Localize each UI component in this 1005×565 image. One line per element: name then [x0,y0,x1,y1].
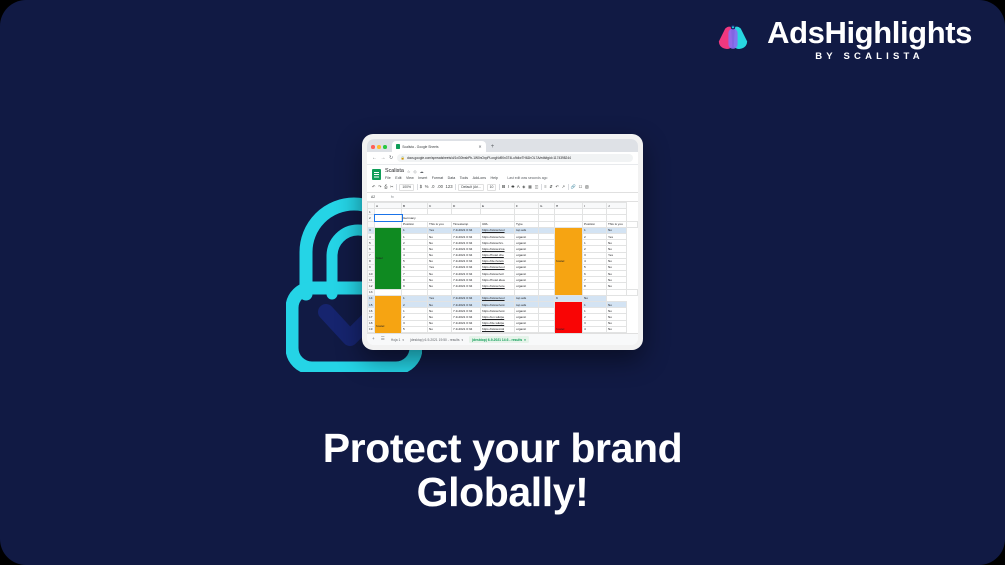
menu-insert[interactable]: Insert [418,176,427,180]
zoom-level[interactable]: 100% [399,184,414,191]
cell-type[interactable]: organic [515,332,539,333]
brand-tagline: BY SCALISTA [815,51,924,62]
adshighlights-petal-logo-icon [712,18,754,60]
slide-canvas: AdsHighlights BY SCALISTA Sc [0,0,1005,565]
fill-color-icon[interactable]: ◈ [522,185,525,189]
font-size-select[interactable]: 10 [487,184,497,191]
cloud-status-icon: ☁ [420,169,424,174]
last-edit-status: Last edit was seconds ago [507,176,547,180]
close-window-icon[interactable] [371,145,375,149]
new-tab-icon[interactable]: + [491,144,495,152]
currency-icon[interactable]: $ [420,185,422,189]
sheet-tab-desktop-143[interactable]: (desktop) 6-9-2021 14:3 - results ▾ [469,336,529,343]
toolbar-divider [396,184,397,190]
decrease-decimal-icon[interactable]: .0 [431,185,435,189]
brand-name: AdsHighlights [767,17,972,49]
grid-cell[interactable] [627,289,638,295]
paint-format-icon[interactable]: ✂ [390,185,394,189]
insert-comment-icon[interactable]: ☐ [579,185,583,189]
strikethrough-icon[interactable]: S [511,185,514,189]
spreadsheet-grid[interactable]: ABCDEFGHIJ12GermanyPositionThis is youTi… [367,202,638,333]
browser-tab-title: Scalista - Google Sheets [402,145,476,149]
merged-label-hotel[interactable]: hotel [375,227,402,289]
table-row[interactable]: 205No7-9-2021 0:34https://www.hostorgani… [368,332,638,333]
maximize-window-icon[interactable] [383,145,387,149]
browser-tabstrip: Scalista - Google Sheets ✕ + [367,139,638,152]
text-color-icon[interactable]: A [517,185,520,189]
reload-icon[interactable]: ↻ [389,156,393,161]
grid-cell[interactable] [539,332,555,333]
sheet-tab-desktop-1950[interactable]: (desktop) 6-9-2021 19:50 - results ▾ [410,338,463,342]
brand-lockup: AdsHighlights BY SCALISTA [712,17,972,62]
sheet-tab-bar: + ☰ Hoja 1 ▾ (desktop) 6-9-2021 19:50 - … [367,333,638,345]
menu-data[interactable]: Data [448,176,456,180]
insert-chart-icon[interactable]: ▧ [585,185,589,189]
arrow-right-icon[interactable]: → [381,156,386,161]
add-sheet-icon[interactable]: + [372,337,375,342]
merge-cells-icon[interactable]: ◫ [535,185,539,189]
all-sheets-icon[interactable]: ☰ [381,337,385,342]
toolbar-divider [455,184,456,190]
cell-right-this-is-you[interactable]: No [607,332,627,333]
chevron-down-icon[interactable]: ▾ [462,338,464,342]
merged-label-right-hostel[interactable]: hostel [555,227,583,295]
headline-line-1: Protect your brand [0,427,1005,471]
merged-label-hostel[interactable]: hostel [375,295,402,333]
increase-decimal-icon[interactable]: .00 [437,185,443,189]
folder-move-icon[interactable]: ◇ [413,169,416,174]
bold-icon[interactable]: B [502,185,505,189]
print-icon[interactable]: ⎙ [384,185,387,189]
font-family-select[interactable]: Default (Ari... [458,184,484,191]
google-sheets-icon [372,169,381,180]
close-tab-icon[interactable]: ✕ [478,145,481,149]
borders-icon[interactable]: ▦ [528,185,532,189]
grid-cell[interactable] [607,289,627,295]
star-icon[interactable]: ☆ [407,169,411,174]
menu-edit[interactable]: Edit [395,176,401,180]
text-rotation-icon[interactable]: ↗ [562,185,566,189]
cell-url[interactable]: https://www.host [481,332,515,333]
arrow-left-icon[interactable]: ← [372,156,377,161]
name-box[interactable]: A2 [371,195,387,199]
toolbar-divider [417,184,418,190]
toolbar-divider [568,184,569,190]
brand-text: AdsHighlights BY SCALISTA [767,17,972,62]
document-title-row: Scalista ☆ ◇ ☁ [385,168,633,174]
function-icon[interactable]: fx [391,195,394,199]
percent-icon[interactable]: % [425,185,429,189]
menu-file[interactable]: File [385,176,391,180]
vertical-align-icon[interactable]: ⇵ [549,185,553,189]
more-formats-icon[interactable]: 123 [446,185,453,189]
toolbar-divider [499,184,500,190]
browser-urlbar: ← → ↻ 🔒 docs.google.com/spreadsheets/d/1… [367,152,638,165]
text-wrap-icon[interactable]: ↶ [555,185,559,189]
sheets-toolbar: ↶ ↷ ⎙ ✂ 100% $ % .0 .00 123 Default (Ari… [367,182,638,192]
cell-timestamp[interactable]: 7-9-2021 0:34 [452,332,481,333]
headline-line-2: Globally! [0,471,1005,515]
grid-cell[interactable] [627,221,638,227]
menu-view[interactable]: View [406,176,414,180]
sheet-tab-hoja-1[interactable]: Hoja 1 ▾ [391,338,404,342]
menu-tools[interactable]: Tools [460,176,468,180]
menu-format[interactable]: Format [432,176,443,180]
horizontal-align-icon[interactable]: ≡ [544,185,546,189]
window-traffic-lights [371,145,387,152]
toolbar-divider [541,184,542,190]
browser-window: Scalista - Google Sheets ✕ + ← → ↻ 🔒 doc… [362,134,643,350]
address-bar-url: docs.google.com/spreadsheets/d/1xG0tnsbP… [407,156,571,160]
address-bar[interactable]: 🔒 docs.google.com/spreadsheets/d/1xG0tns… [397,154,633,162]
sheets-menubar: File Edit View Insert Format Data Tools … [385,176,633,180]
document-title[interactable]: Scalista [385,168,404,174]
menu-addons[interactable]: Add-ons [473,176,486,180]
menu-help[interactable]: Help [491,176,498,180]
lock-icon: 🔒 [401,156,405,160]
row-header[interactable]: 20 [368,332,375,333]
chevron-down-icon[interactable]: ▾ [402,338,404,342]
minimize-window-icon[interactable] [377,145,381,149]
italic-icon[interactable]: I [508,185,509,189]
undo-icon[interactable]: ↶ [372,185,376,189]
formula-bar: A2 fx [367,192,638,202]
grid-table: ABCDEFGHIJ12GermanyPositionThis is youTi… [367,202,638,333]
cell-right-position[interactable]: 5 [583,332,607,333]
browser-tab[interactable]: Scalista - Google Sheets ✕ [392,141,486,152]
chevron-down-icon[interactable]: ▾ [524,338,526,342]
cell-position[interactable]: 5 [402,332,428,333]
merged-label-right-hostel[interactable]: hostel [555,302,583,334]
page-title: Protect your brand Globally! [0,427,1005,515]
redo-icon[interactable]: ↷ [378,185,382,189]
google-sheets-favicon-icon [396,144,401,149]
cell-this-is-you[interactable]: No [428,332,452,333]
insert-link-icon[interactable]: 🔗 [571,185,576,189]
sheets-header: Scalista ☆ ◇ ☁ File Edit View Insert For… [367,165,638,182]
